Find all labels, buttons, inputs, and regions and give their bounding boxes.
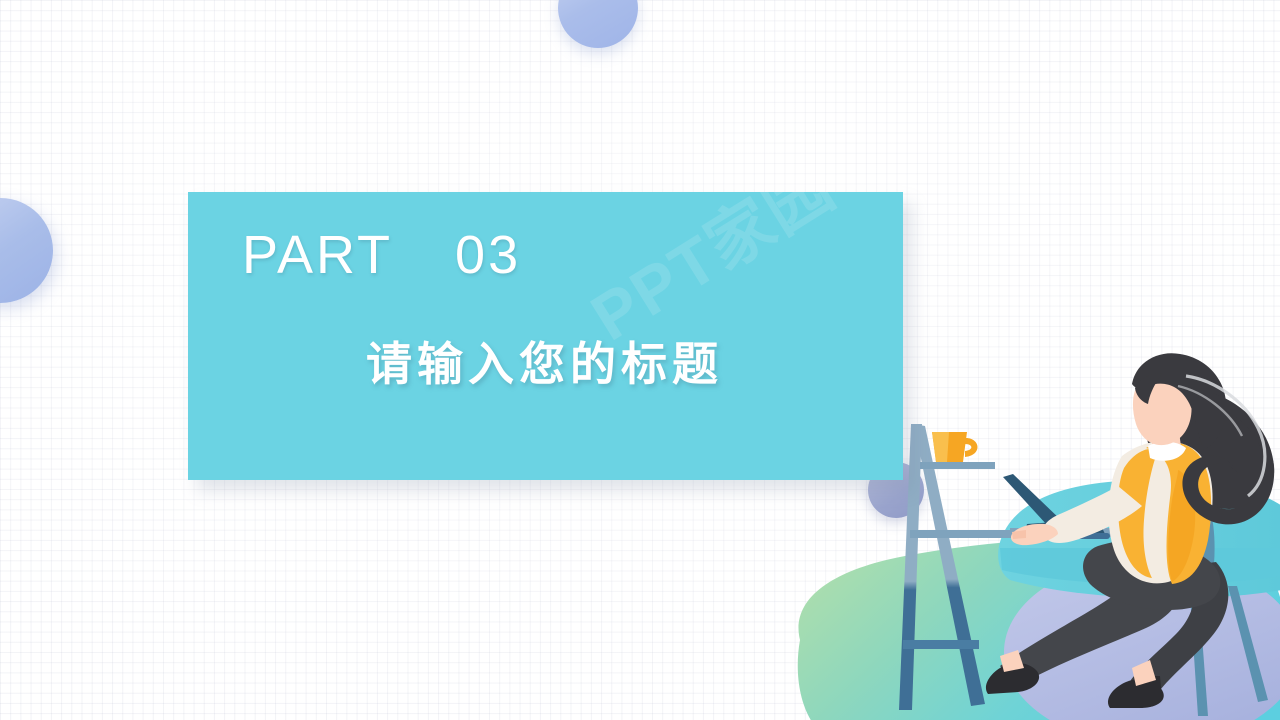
section-number: 03: [455, 224, 521, 286]
section-label: PART: [242, 224, 393, 286]
title-panel: PPT家园 PART 03 请输入您的标题: [188, 192, 903, 480]
slide-canvas: PPT家园 PART 03 请输入您的标题: [0, 0, 1280, 720]
section-heading: PART 03: [242, 224, 521, 286]
slide-title: 请输入您的标题: [366, 328, 723, 394]
